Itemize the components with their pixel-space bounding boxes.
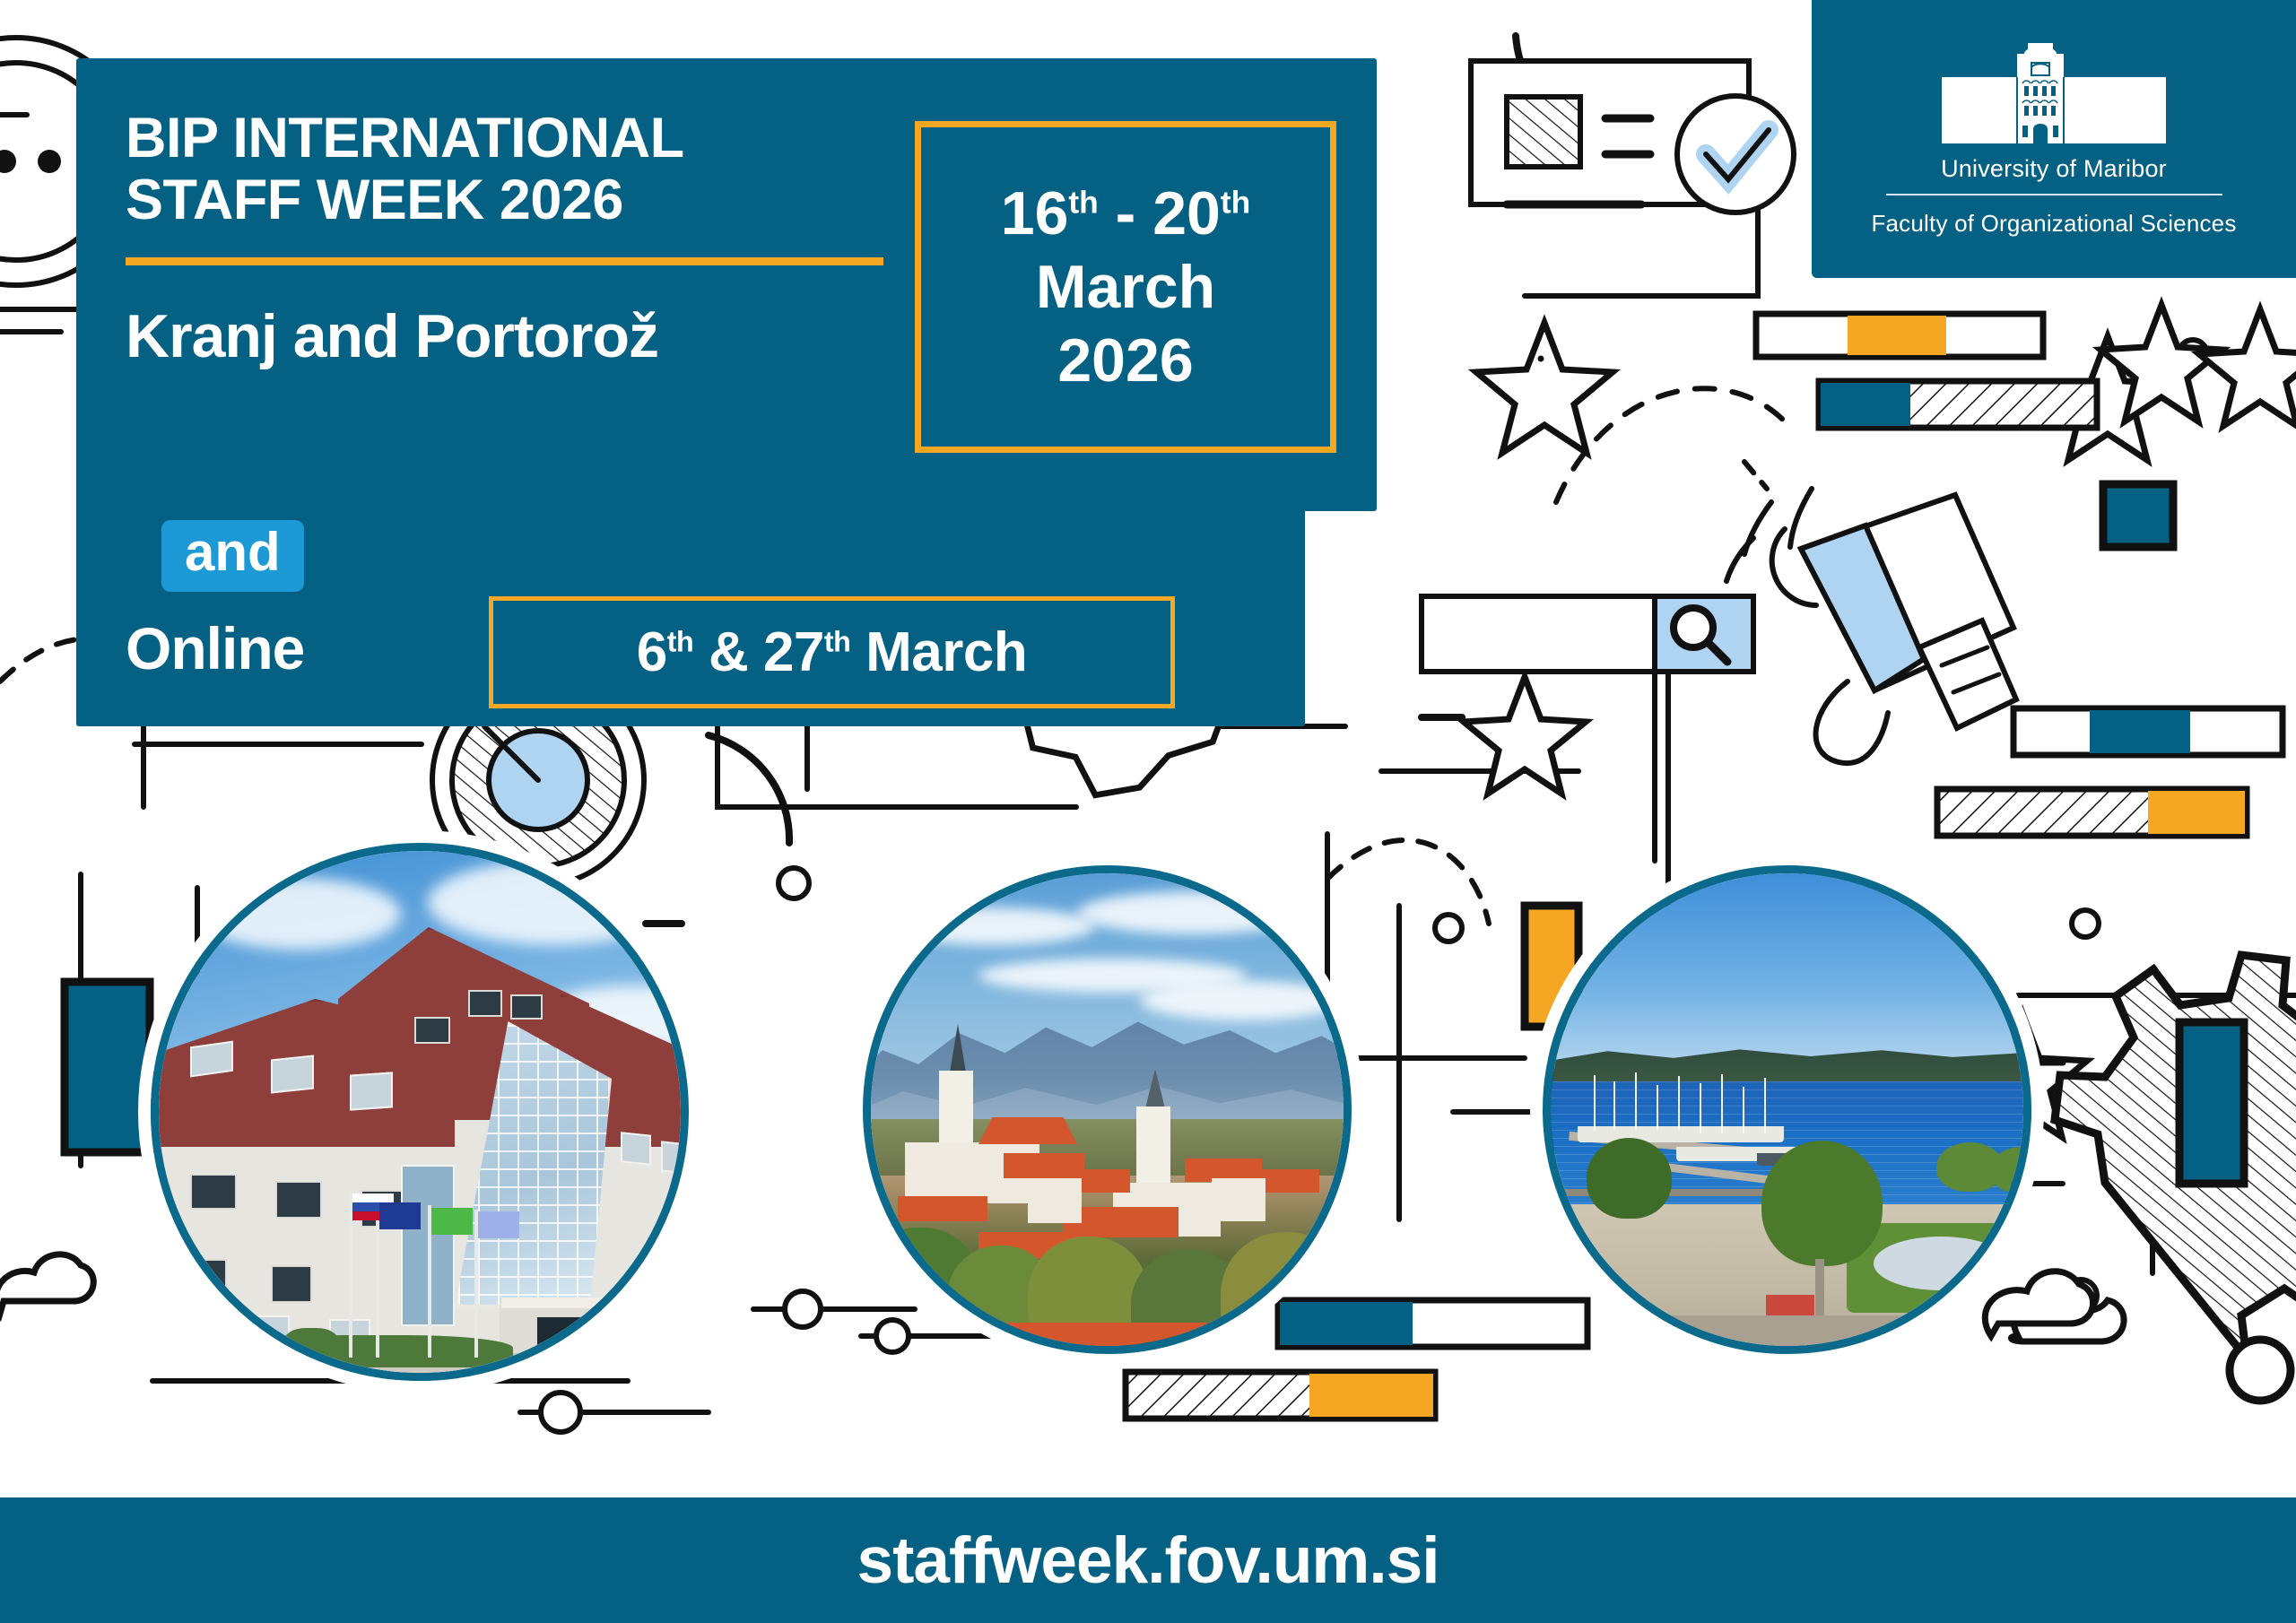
kranj-panorama-photo	[863, 865, 1352, 1354]
range-start-suffix: th	[1068, 185, 1098, 220]
university-building-mark	[1942, 43, 2166, 143]
logo-faculty-name: Faculty of Organizational Sciences	[1871, 210, 2236, 238]
logo-divider	[1886, 194, 2222, 195]
event-mode-online: Online	[126, 619, 304, 678]
megaphone-icon	[1726, 462, 2016, 763]
faculty-building-photo	[151, 843, 689, 1381]
secondary-date-box: 6th & 27th March	[489, 596, 1175, 708]
range-end-suffix: th	[1221, 185, 1250, 220]
range-end-day: 20	[1152, 179, 1221, 247]
check-badge-icon	[1677, 96, 1794, 213]
secondary-day-two: 27	[763, 621, 824, 683]
primary-date-range: 16th - 20th	[1001, 178, 1251, 249]
secondary-day-one-suffix: th	[667, 625, 693, 657]
secondary-day-two-suffix: th	[824, 625, 850, 657]
title-underline-rule	[126, 257, 883, 265]
date-separator: -	[1116, 179, 1136, 247]
event-website-url[interactable]: staffweek.fov.um.si	[857, 1523, 1439, 1598]
primary-date-month: March	[1036, 251, 1215, 323]
university-logo-panel: University of Maribor Faculty of Organiz…	[1812, 0, 2296, 278]
slider-icon	[520, 1393, 709, 1432]
primary-date-box: 16th - 20th March 2026	[915, 121, 1336, 453]
secondary-month: March	[865, 621, 1027, 683]
footer-bar: staffweek.fov.um.si	[0, 1497, 2296, 1623]
primary-date-year: 2026	[1057, 325, 1193, 396]
portoroz-marina-photo	[1543, 865, 2031, 1354]
secondary-day-one: 6	[637, 621, 667, 683]
conjunction-chip: and	[161, 520, 304, 592]
secondary-conjunction: &	[709, 621, 748, 683]
range-start-day: 16	[1001, 179, 1069, 247]
logo-institution-name: University of Maribor	[1941, 155, 2167, 183]
secondary-date-text: 6th & 27th March	[637, 625, 1027, 681]
